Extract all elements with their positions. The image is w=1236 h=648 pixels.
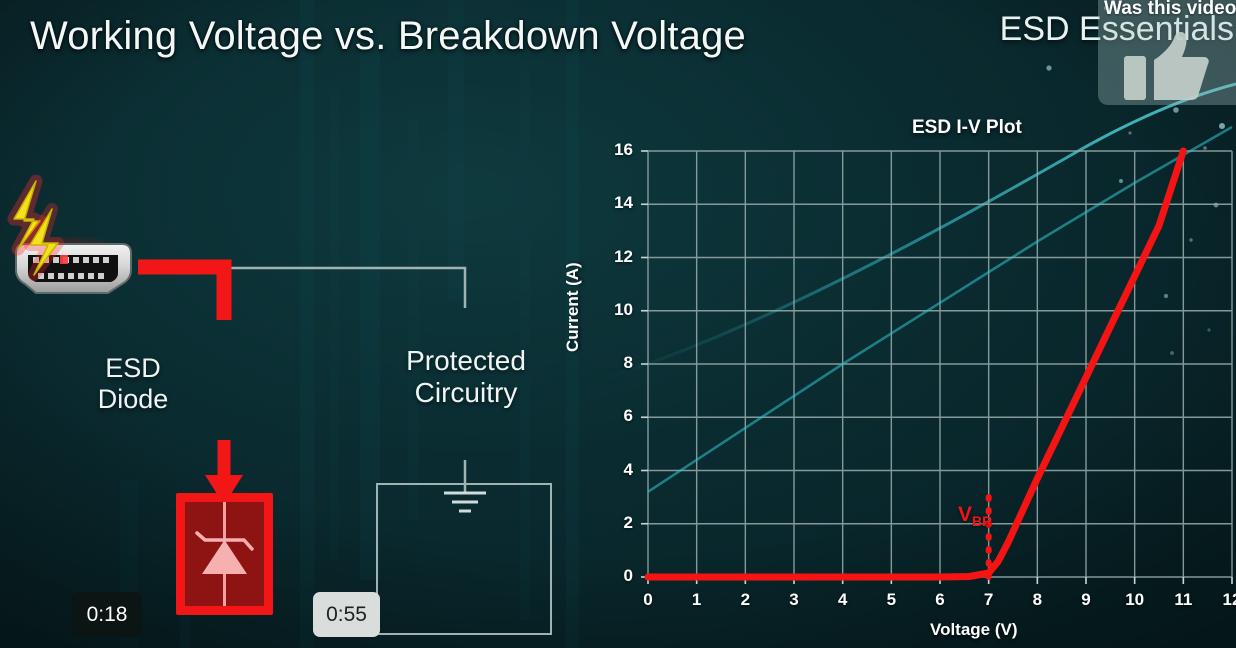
chart-x-axis-label: Voltage (V) <box>930 620 1018 640</box>
zener-diode-icon <box>185 502 264 606</box>
esd-diode-component[interactable] <box>176 493 273 615</box>
protected-circuitry-component[interactable] <box>376 483 552 635</box>
protected-label-line2: Circuitry <box>378 377 554 409</box>
y-tick-label: 2 <box>597 513 633 533</box>
x-tick-label: 5 <box>876 590 906 610</box>
y-tick-label: 4 <box>597 460 633 480</box>
y-tick-label: 0 <box>597 566 633 586</box>
circuit-diagram: ESD Diode Protected Circuitry <box>0 175 600 545</box>
x-tick-label: 9 <box>1071 590 1101 610</box>
chart-y-axis-label: Current (A) <box>563 262 583 352</box>
vbr-label: V <box>958 503 972 526</box>
x-tick-label: 2 <box>730 590 760 610</box>
x-tick-label: 4 <box>828 590 858 610</box>
current-time-badge[interactable]: 0:18 <box>72 592 142 637</box>
chart-series-esd-curve <box>648 151 1183 577</box>
chart-tick-marks <box>641 151 1232 584</box>
esd-diode-label-line2: Diode <box>78 384 188 415</box>
x-tick-label: 6 <box>925 590 955 610</box>
overlay-prompt-text: Was this video <box>1104 0 1236 20</box>
chart-series-accent <box>648 127 1232 492</box>
protected-circuitry-label: Protected Circuitry <box>378 345 554 409</box>
total-time-badge[interactable]: 0:55 <box>313 592 380 637</box>
y-tick-label: 8 <box>597 353 633 373</box>
y-tick-label: 10 <box>597 300 633 320</box>
protected-label-line1: Protected <box>378 345 554 377</box>
page-title: Working Voltage vs. Breakdown Voltage <box>30 14 746 59</box>
x-tick-label: 0 <box>633 590 663 610</box>
x-tick-label: 1 <box>682 590 712 610</box>
x-tick-label: 10 <box>1120 590 1150 610</box>
thumbs-up-icon[interactable] <box>1124 30 1210 102</box>
breakdown-voltage-annotation: VBR <box>958 503 992 529</box>
vbr-subscript: BR <box>972 513 992 529</box>
y-tick-label: 6 <box>597 406 633 426</box>
x-tick-label: 7 <box>974 590 1004 610</box>
y-tick-label: 12 <box>597 247 633 267</box>
chart-title: ESD I-V Plot <box>912 117 1022 139</box>
x-tick-label: 12 <box>1217 590 1236 610</box>
y-tick-label: 16 <box>597 140 633 160</box>
x-tick-label: 8 <box>1022 590 1052 610</box>
youtube-feedback-overlay[interactable]: Was this video <box>1098 0 1236 105</box>
y-tick-label: 14 <box>597 193 633 213</box>
chart-gridlines <box>648 151 1232 577</box>
x-tick-label: 3 <box>779 590 809 610</box>
protection-wire <box>138 267 224 320</box>
x-tick-label: 11 <box>1168 590 1198 610</box>
esd-diode-label-line1: ESD <box>78 353 188 384</box>
esd-diode-label: ESD Diode <box>78 353 188 415</box>
